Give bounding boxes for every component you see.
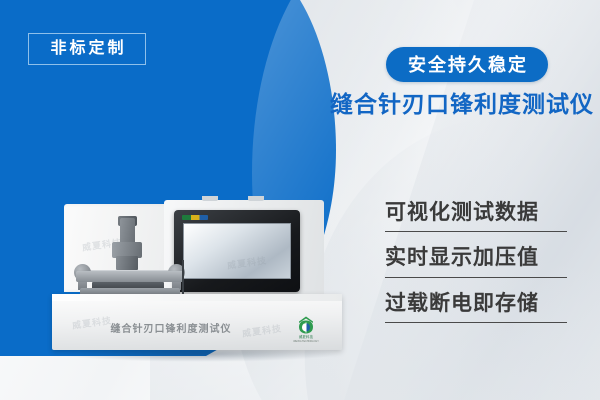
touchscreen-display <box>183 223 291 279</box>
feature-pill-label: 安全持久稳定 <box>406 56 528 74</box>
brand-logo: 威夏科技 WEIXIA TECHNOLOGY <box>289 316 323 346</box>
brand-logo-subtext: WEIXIA TECHNOLOGY <box>289 340 323 343</box>
product-machine-image: 缝合针刃口锋利度测试仪 威夏科技 WEIXIA TECHNOLOGY 威夏科技 … <box>52 196 342 371</box>
test-fixture-assembly <box>70 216 190 300</box>
brand-logo-mark-icon <box>296 316 316 335</box>
custom-order-badge: 非标定制 <box>28 33 146 65</box>
feature-label: 过载断电即存储 <box>385 291 567 317</box>
machine-housing-tab <box>202 196 218 201</box>
fixture-cable <box>182 260 184 296</box>
page-title: 缝合针刃口锋利度测试仪 <box>330 93 590 116</box>
machine-base-top-edge <box>52 294 342 301</box>
feature-label: 实时显示加压值 <box>385 245 567 271</box>
product-banner: 非标定制 安全持久稳定 缝合针刃口锋利度测试仪 可视化测试数据 实时显示加压值 … <box>0 0 600 400</box>
list-item: 可视化测试数据 <box>385 200 567 232</box>
feature-list: 可视化测试数据 实时显示加压值 过载断电即存储 <box>385 200 567 336</box>
fixture-head-lower <box>116 256 138 270</box>
machine-housing-tab <box>248 196 264 201</box>
feature-pill-badge: 安全持久稳定 <box>386 47 548 82</box>
custom-order-badge-label: 非标定制 <box>47 41 126 57</box>
fixture-crossbar <box>76 271 184 282</box>
list-item: 实时显示加压值 <box>385 245 567 277</box>
list-item: 过载断电即存储 <box>385 291 567 323</box>
feature-label: 可视化测试数据 <box>385 200 567 226</box>
